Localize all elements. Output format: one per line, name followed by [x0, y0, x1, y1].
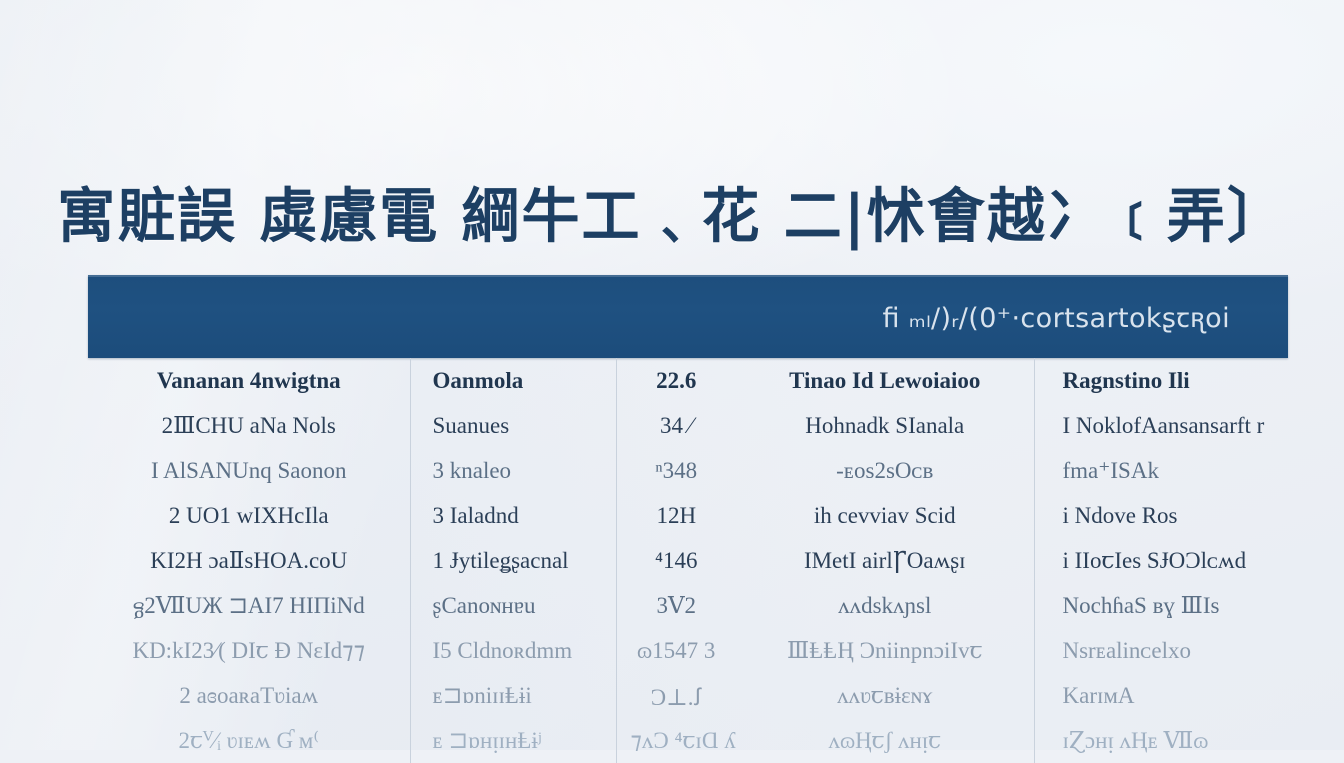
- cell-text: -ᴇos2sOᴄʙ: [836, 458, 933, 484]
- table-header-title: ﬁ ₘₗ/)ᵣ∕(0⁺·cortsartokʂꞇꭆoi: [882, 298, 1230, 335]
- table-cell: ⁊ʌƆ ⁴ꞇɪⱭ ʎ⁼ᵢ: [616, 718, 736, 763]
- table-cell: ɪⱿɔʜᴉ ʌⱧᴇ Ⅶɷ: [1034, 718, 1288, 763]
- cell-text: ʌʌʋꞇʙɨɛɴɤ: [837, 683, 932, 709]
- cell-text: ᴇ⊐ɒniɪɪⱠɨi: [433, 683, 532, 709]
- table-row: 2ⅢCHU aNa NolsSuanues34 ⁄Hohnadk SIanala…: [88, 403, 1288, 448]
- page-title: 寓賍誤 虡慮電 綱牛工﹑花 二|怵㑹越冫﹝弄〕: [0, 168, 1344, 254]
- cell-text: 1 Ɉytileǥʂacnal: [433, 548, 569, 574]
- table-cell: ih cevviav Scid: [736, 493, 1034, 538]
- table-cell: I NoklofAansansarft r: [1034, 403, 1288, 448]
- cell-text: Oanmola: [433, 368, 524, 394]
- table-header-bar: ﬁ ₘₗ/)ᵣ∕(0⁺·cortsartokʂꞇꭆoi: [88, 275, 1288, 358]
- cell-text: ɷ1547 3: [637, 638, 715, 664]
- cell-text: ih cevviav Scid: [814, 503, 956, 529]
- cell-text: 12H: [656, 503, 696, 529]
- table-grid: Vananan 4nwigtnaOanmola22.6Tinao Id Lewo…: [88, 358, 1288, 763]
- table-cell: 12H: [616, 493, 736, 538]
- table-body: Vananan 4nwigtnaOanmola22.6Tinao Id Lewo…: [88, 358, 1288, 763]
- cell-text: I AlSANUnq Saonon: [151, 458, 347, 484]
- table-cell: IMetI airlꞄOaʍʂɪ: [736, 538, 1034, 583]
- table-cell: 3 Ialadnd: [410, 493, 616, 538]
- table-cell: 2 UO1 ԝIXHcIla: [88, 493, 410, 538]
- table-row: ᵷ2ⅦUЖ ⊐AI7 HIПiNdʂCanoɴʜɐu3Ⅴ2ʌʌdskʌɲslNo…: [88, 583, 1288, 628]
- cell-text: 22.6: [656, 368, 696, 394]
- table-cell: ᴇ ⊐ɒʜᴉɪʜⱠɨʲ: [410, 718, 616, 763]
- cell-text: I NoklofAansansarft r: [1063, 413, 1265, 439]
- cell-text: ⁴146: [655, 548, 698, 574]
- cell-text: 3 knaleo: [433, 458, 512, 484]
- cell-text: ʌʌdskʌɲsl: [838, 593, 931, 619]
- table-row: 2 aɞoaʀaTʋiaʍᴇ⊐ɒniɪɪⱠɨiƆ⊥.ꭍʌʌʋꞇʙɨɛɴɤKarɪ…: [88, 673, 1288, 718]
- table-cell: 2ꞇⱽ⁄ᵢ ʋɪᴇʍ Ɠ ᴍ⁽: [88, 718, 410, 763]
- table-cell: ʌʌʋꞇʙɨɛɴɤ: [736, 673, 1034, 718]
- table-cell: i Ndove Ros: [1034, 493, 1288, 538]
- cell-text: Nsrᴇalinᴄelxo: [1063, 638, 1192, 664]
- table-cell: 3Ⅴ2: [616, 583, 736, 628]
- table-cell: Vananan 4nwigtna: [88, 358, 410, 403]
- cell-text: Ɔ⊥.ꭍ: [651, 680, 702, 712]
- table-cell: Oanmola: [410, 358, 616, 403]
- table-cell: ⁿ348: [616, 448, 736, 493]
- table-row: 2 UO1 ԝIXHcIla3 Ialadnd12Hih cevviav Sci…: [88, 493, 1288, 538]
- cell-text: I5 Cldnoʀdmm: [433, 638, 573, 664]
- table-cell: ʂCanoɴʜɐu: [410, 583, 616, 628]
- table-cell: 34 ⁄: [616, 403, 736, 448]
- cell-text: ʂCanoɴʜɐu: [433, 593, 536, 619]
- table-rows: Vananan 4nwigtnaOanmola22.6Tinao Id Lewo…: [88, 358, 1288, 763]
- table-cell: NochɦaS ʙɣ ⅢIs: [1034, 583, 1288, 628]
- cell-text: Hohnadk SIanala: [805, 413, 964, 439]
- table-cell: KarɪᴍA: [1034, 673, 1288, 718]
- cell-text: ⅢⱠⱠⱧ ƆniinpnɔiIvꞇ: [787, 638, 982, 664]
- table-cell: 22.6: [616, 358, 736, 403]
- cell-text: ⁿ348: [655, 458, 697, 484]
- cell-text: ᵷ2ⅦUЖ ⊐AI7 HIПiNd: [133, 593, 365, 619]
- table-cell: ʌʌdskʌɲsl: [736, 583, 1034, 628]
- table-cell: KI2H ɔaⅡsHOA.coU: [88, 538, 410, 583]
- table-cell: Suanues: [410, 403, 616, 448]
- cell-text: Tinao Id Lewoiaioo: [789, 368, 980, 394]
- table-cell: 2ⅢCHU aNa Nols: [88, 403, 410, 448]
- table-cell: Ɔ⊥.ꭍ: [616, 673, 736, 718]
- table-row: Vananan 4nwigtnaOanmola22.6Tinao Id Lewo…: [88, 358, 1288, 403]
- cell-text: Ragnstino Ili: [1063, 368, 1190, 394]
- cell-text: KD:kI23⁄( DIꞇ Ð NɛId⁊⁊: [132, 638, 365, 664]
- table-cell: Hohnadk SIanala: [736, 403, 1034, 448]
- table-row: 2ꞇⱽ⁄ᵢ ʋɪᴇʍ Ɠ ᴍ⁽ᴇ ⊐ɒʜᴉɪʜⱠɨʲ⁊ʌƆ ⁴ꞇɪⱭ ʎ⁼ᵢʌɷ…: [88, 718, 1288, 763]
- cell-text: Suanues: [433, 413, 510, 439]
- table-row: KI2H ɔaⅡsHOA.coU1 Ɉytileǥʂacnal⁴146IMetI…: [88, 538, 1288, 583]
- cell-text: fma⁺ISAk: [1063, 458, 1159, 484]
- cell-text: KarɪᴍA: [1063, 683, 1135, 709]
- cell-text: 2ⅢCHU aNa Nols: [162, 413, 336, 439]
- cell-text: Vananan 4nwigtna: [157, 368, 341, 394]
- cell-text: i Ndove Ros: [1063, 503, 1178, 529]
- table-cell: ⅢⱠⱠⱧ ƆniinpnɔiIvꞇ: [736, 628, 1034, 673]
- table-cell: Tinao Id Lewoiaioo: [736, 358, 1034, 403]
- table-cell: ʌɷⱧꞇʃ ʌʜᴉꞇ: [736, 718, 1034, 763]
- cell-text: NochɦaS ʙɣ ⅢIs: [1063, 593, 1220, 619]
- cell-text: 34 ⁄: [660, 413, 693, 439]
- table-cell: 2 aɞoaʀaTʋiaʍ: [88, 673, 410, 718]
- table-cell: I AlSANUnq Saonon: [88, 448, 410, 493]
- table-cell: 1 Ɉytileǥʂacnal: [410, 538, 616, 583]
- table-row: KD:kI23⁄( DIꞇ Ð NɛId⁊⁊I5 Cldnoʀdmmɷ1547 …: [88, 628, 1288, 673]
- table-cell: Ragnstino Ili: [1034, 358, 1288, 403]
- table-cell: I5 Cldnoʀdmm: [410, 628, 616, 673]
- table-cell: 3 knaleo: [410, 448, 616, 493]
- cell-text: 3Ⅴ2: [656, 593, 696, 619]
- cell-text: 2 aɞoaʀaTʋiaʍ: [179, 683, 318, 709]
- table-cell: ᵷ2ⅦUЖ ⊐AI7 HIПiNd: [88, 583, 410, 628]
- cell-text: 3 Ialadnd: [433, 503, 519, 529]
- table-cell: KD:kI23⁄( DIꞇ Ð NɛId⁊⁊: [88, 628, 410, 673]
- table-cell: fma⁺ISAk: [1034, 448, 1288, 493]
- table-cell: ɷ1547 3: [616, 628, 736, 673]
- cell-text: 2 UO1 ԝIXHcIla: [169, 503, 329, 529]
- table-cell: -ᴇos2sOᴄʙ: [736, 448, 1034, 493]
- table-cell: ⁴146: [616, 538, 736, 583]
- cell-text: KI2H ɔaⅡsHOA.coU: [150, 548, 347, 574]
- data-table: ﬁ ₘₗ/)ᵣ∕(0⁺·cortsartokʂꞇꭆoi Vananan 4nwi…: [88, 275, 1288, 763]
- table-cell: ᴇ⊐ɒniɪɪⱠɨi: [410, 673, 616, 718]
- page-title-text: 寓賍誤 虡慮電 綱牛工﹑花 二|怵㑹越冫﹝弄〕: [57, 168, 1287, 254]
- table-cell: i IIoꞇIes SɈOƆlᴄʍd: [1034, 538, 1288, 583]
- table-row: I AlSANUnq Saonon3 knaleoⁿ348-ᴇos2sOᴄʙfm…: [88, 448, 1288, 493]
- table-cell: Nsrᴇalinᴄelxo: [1034, 628, 1288, 673]
- cell-text: IMetI airlꞄOaʍʂɪ: [804, 548, 966, 574]
- cell-text: i IIoꞇIes SɈOƆlᴄʍd: [1063, 548, 1247, 574]
